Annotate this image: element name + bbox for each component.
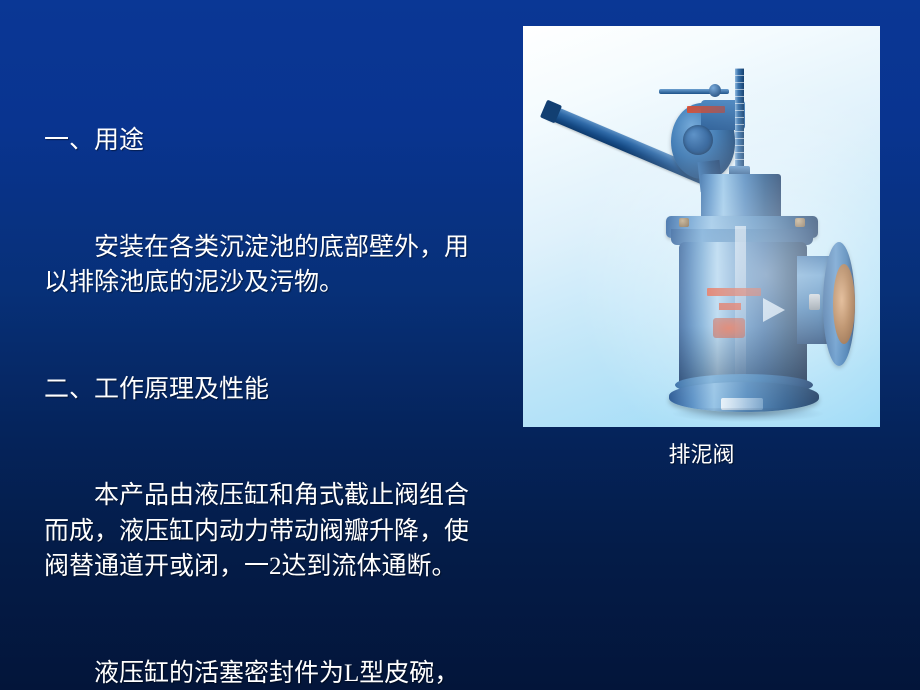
figure-caption: 排泥阀 (523, 440, 880, 470)
valve-product-photo (523, 26, 880, 427)
hydraulic-cylinder-icon (701, 174, 781, 222)
paragraph-principle: 本产品由液压缸和角式截止阀组合而成，液压缸内动力带动阀瓣升降，使阀替通道开或闭，… (44, 478, 474, 585)
heading-principle: 二、工作原理及性能 (44, 372, 474, 408)
content-text-block: 一、用途 安装在各类沉淀池的底部壁外，用以排除池底的泥沙及污物。 二、工作原理及… (44, 52, 474, 690)
paragraph-purpose: 安装在各类沉淀池的底部壁外，用以排除池底的泥沙及污物。 (44, 230, 474, 301)
gearbox-nameplate-icon (687, 106, 725, 113)
heading-purpose: 一、用途 (44, 123, 474, 159)
top-knob-icon (709, 84, 721, 97)
slide-canvas: 一、用途 安装在各类沉淀池的底部壁外，用以排除池底的泥沙及污物。 二、工作原理及… (0, 0, 920, 690)
paragraph-sealing: 液压缸的活塞密封件为L型皮碗，其密封性能好，经久耐用。阀瓣与阀座为软密封，密封性… (44, 656, 474, 690)
gearbox-dial-icon (683, 125, 713, 155)
flow-direction-arrow-icon (763, 298, 785, 322)
ground-shadow-icon (673, 408, 823, 422)
body-nameplate-line2-icon (719, 303, 741, 310)
body-logo-icon (713, 318, 745, 338)
side-flange-bolt-icon (809, 294, 820, 310)
indicator-scale-icon (735, 68, 744, 178)
body-nameplate-line1-icon (707, 288, 761, 296)
side-outlet-bore-icon (833, 264, 855, 344)
flange-bolt-right-icon (795, 218, 805, 227)
flange-bolt-left-icon (679, 218, 689, 227)
